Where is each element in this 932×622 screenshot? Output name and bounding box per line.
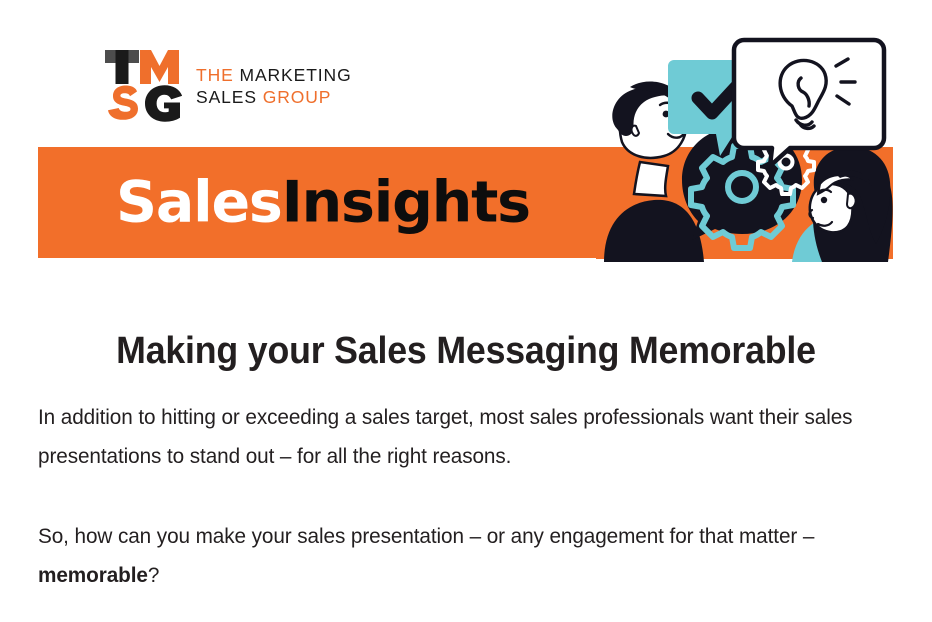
article-paragraph: In addition to hitting or exceeding a sa… xyxy=(38,398,860,476)
logo-letter-g xyxy=(145,85,182,122)
logo-letter-m xyxy=(140,50,179,84)
logo-word-group: GROUP xyxy=(263,87,332,107)
logo-letter-t xyxy=(105,50,139,84)
newsletter-page: THE MARKETING SALES GROUP SalesInsights xyxy=(0,0,932,622)
banner-title: SalesInsights xyxy=(116,174,530,231)
lightbulb-icon xyxy=(780,59,855,128)
sales-insights-banner: SalesInsights xyxy=(38,147,893,258)
logo-word-sales: SALES xyxy=(196,87,263,107)
banner-title-insights: Insights xyxy=(282,169,530,235)
person-left-eye xyxy=(663,111,670,118)
tmsg-logo-wordmark: THE MARKETING SALES GROUP xyxy=(196,62,352,108)
logo-wordmark-line-2: SALES GROUP xyxy=(196,87,352,108)
logo-letter-s xyxy=(108,86,138,120)
checkmark-icon xyxy=(698,87,736,113)
logo-word-marketing: MARKETING xyxy=(239,65,351,85)
tmsg-logo: THE MARKETING SALES GROUP xyxy=(104,46,352,124)
tmsg-logo-mark xyxy=(104,46,182,124)
banner-title-sales: Sales xyxy=(116,169,282,235)
logo-word-the: THE xyxy=(196,65,239,85)
article-headline: Making your Sales Messaging Memorable xyxy=(28,330,904,373)
article-body: In addition to hitting or exceeding a sa… xyxy=(38,398,890,595)
logo-wordmark-line-1: THE MARKETING xyxy=(196,65,352,86)
article-paragraph: So, how can you make your sales presenta… xyxy=(38,517,860,595)
checkmark-speech-bubble xyxy=(668,60,784,156)
